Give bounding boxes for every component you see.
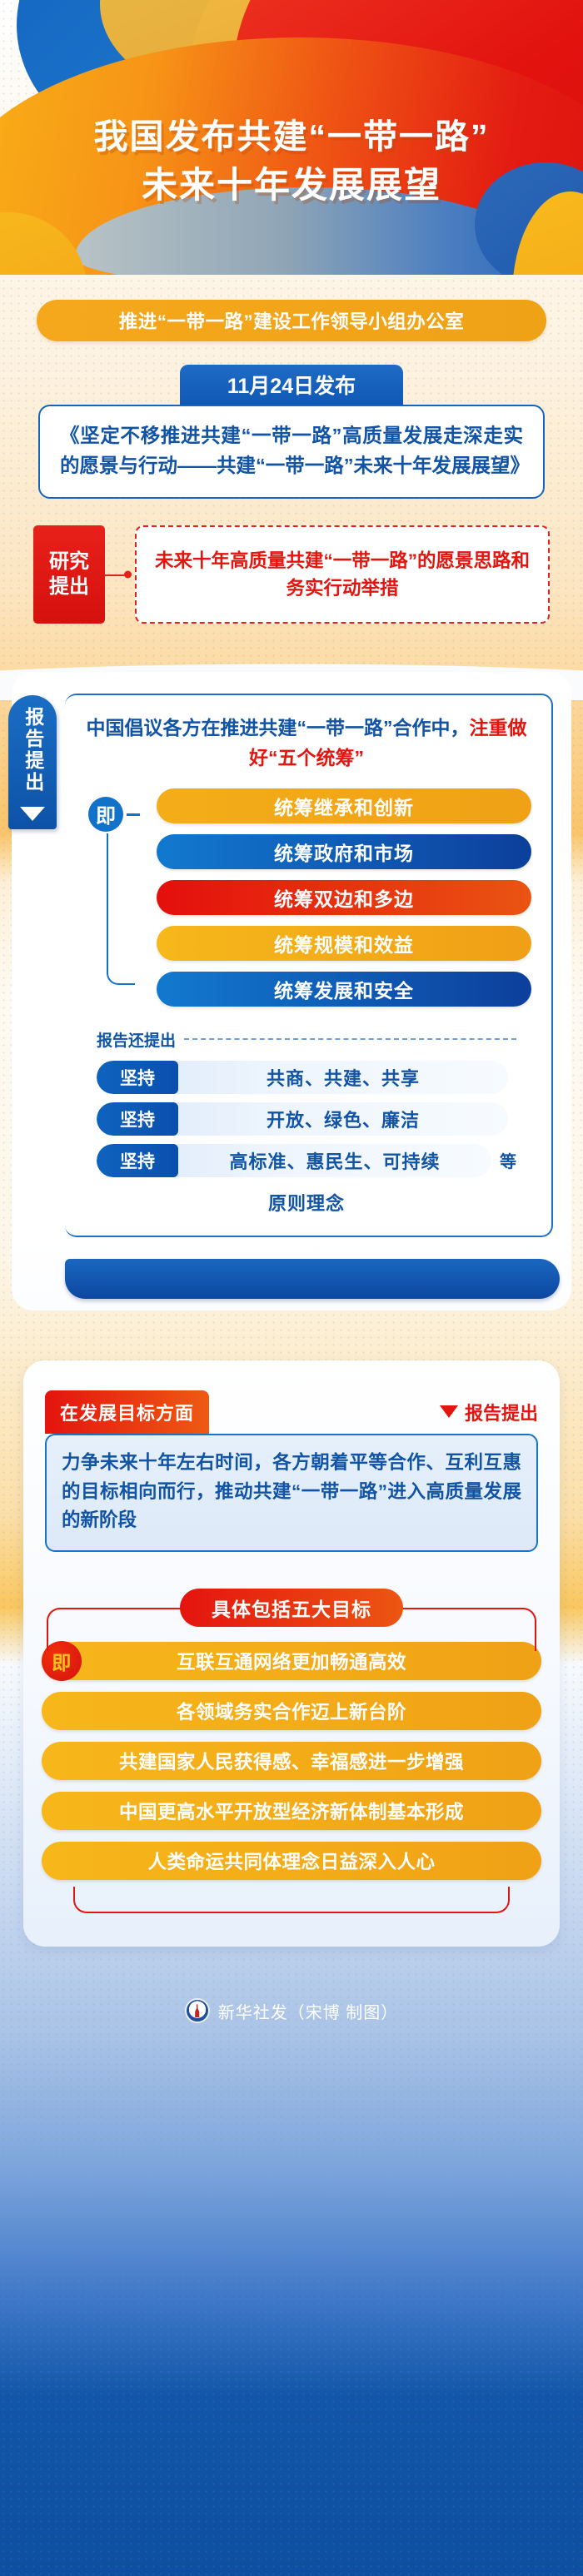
publish-date-tab: 11月24日发布	[180, 365, 403, 405]
triangle-down-icon	[440, 1405, 458, 1418]
goal-quote-card: 力争未来十年左右时间，各方朝着平等合作、互利互惠的目标相向而行，推动共建“一带一…	[45, 1434, 538, 1553]
ji-dash-icon	[127, 813, 140, 816]
also-proposed-header: 报告还提出	[97, 1028, 516, 1051]
goal-topic-tag: 在发展目标方面	[45, 1390, 209, 1434]
infographic-page: 我国发布共建“一带一路” 未来十年发展展望 推进“一带一路”建设工作领导小组办公…	[0, 0, 583, 2576]
goal-report-label-wrap: 报告提出	[440, 1399, 538, 1425]
persist-suffix-3: 等	[500, 1148, 516, 1172]
title-line-1: 我国发布共建“一带一路”	[0, 112, 583, 161]
coordination-pill-5[interactable]: 统筹发展和安全	[157, 972, 531, 1007]
research-text: 未来十年高质量共建“一带一路”的愿景思路和务实行动举措	[152, 547, 533, 604]
coordination-pill-list: 统筹继承和创新 统筹政府和市场 统筹双边和多边 统筹规模和效益 统筹发展和安全	[157, 788, 531, 1007]
document-title-text: 《坚定不移推进共建“一带一路”高质量发展走深走实的愿景与行动——共建“一带一路”…	[60, 421, 523, 480]
footer-credit: 新华社发（宋博 制图）	[218, 1999, 399, 2023]
report-lead-text: 中国倡议各方在推进共建“一带一路”合作中，注重做好“五个统筹”	[77, 714, 536, 773]
persist-text-3: 高标准、惠民生、可持续	[178, 1147, 491, 1174]
report-section: 报告提出 中国倡议各方在推进共建“一带一路”合作中，注重做好“五个统筹” 即 统…	[12, 672, 571, 1310]
report-vertical-tab: 报告提出	[8, 695, 57, 829]
goal-label-5: 人类命运共同体理念日益深入人心	[147, 1847, 435, 1874]
persist-row-3: 坚持 高标准、惠民生、可持续 等	[97, 1144, 516, 1177]
goal-bar-4[interactable]: 中国更高水平开放型经济新体制基本形成	[42, 1792, 541, 1830]
report-inner-card: 中国倡议各方在推进共建“一带一路”合作中，注重做好“五个统筹” 即 统筹继承和创…	[65, 694, 553, 1236]
connector-line-icon	[105, 525, 135, 624]
five-goals-tag: 具体包括五大目标	[180, 1589, 403, 1627]
research-text-box: 未来十年高质量共建“一带一路”的愿景思路和务实行动举措	[135, 525, 550, 624]
report-tab-label: 报告提出	[21, 707, 44, 793]
goal-label-4: 中国更高水平开放型经济新体制基本形成	[119, 1798, 464, 1824]
footer: 新华社发（宋博 制图）	[0, 1947, 583, 2048]
coordination-pill-area: 即 统筹继承和创新 统筹政府和市场 统筹双边和多边 统筹规模和效益 统筹发展和安…	[77, 788, 536, 1007]
goal-bar-5[interactable]: 人类命运共同体理念日益深入人心	[42, 1842, 541, 1880]
research-tag-line-2: 提出	[49, 574, 89, 599]
section-spacer	[12, 1299, 571, 1310]
goals-header: 在发展目标方面 报告提出	[23, 1390, 560, 1434]
goal-quote-text: 力争未来十年左右时间，各方朝着平等合作、互利互惠的目标相向而行，推动共建“一带一…	[62, 1449, 521, 1536]
persist-text-1: 共商、共建、共享	[178, 1064, 508, 1091]
goals-section: 在发展目标方面 报告提出 力争未来十年左右时间，各方朝着平等合作、互利互惠的目标…	[23, 1360, 560, 1947]
principle-label: 原则理念	[77, 1189, 536, 1216]
five-goals-header-wrap: 具体包括五大目标	[23, 1589, 560, 1627]
also-proposed-label: 报告还提出	[97, 1028, 176, 1051]
xinhua-logo-icon	[185, 1998, 210, 2023]
decorative-blue-bar	[65, 1259, 560, 1299]
persist-text-2: 开放、绿色、廉洁	[178, 1106, 508, 1132]
coordination-pill-1[interactable]: 统筹继承和创新	[157, 788, 531, 823]
title-line-2: 未来十年发展展望	[0, 161, 583, 211]
coordination-pill-2[interactable]: 统筹政府和市场	[157, 834, 531, 869]
page-title: 我国发布共建“一带一路” 未来十年发展展望	[0, 112, 583, 211]
header-banner: 我国发布共建“一带一路” 未来十年发展展望	[0, 0, 583, 275]
pill-bracket-icon	[107, 833, 135, 985]
research-proposal-row: 研究 提出 未来十年高质量共建“一带一路”的愿景思路和务实行动举措	[33, 525, 550, 624]
goal-bar-3[interactable]: 共建国家人民获得感、幸福感进一步增强	[42, 1742, 541, 1780]
persist-pill-2[interactable]: 坚持 开放、绿色、廉洁	[97, 1102, 508, 1136]
goal-label-1: 互联互通网络更加畅通高效	[177, 1648, 406, 1674]
persist-tag-1: 坚持	[97, 1061, 178, 1094]
dashed-divider	[184, 1038, 516, 1040]
goal-bar-2[interactable]: 各领域务实合作迈上新台阶	[42, 1692, 541, 1730]
goal-report-label: 报告提出	[465, 1399, 538, 1425]
persist-tag-2: 坚持	[97, 1102, 178, 1136]
goal-bottom-bracket-icon	[73, 1887, 510, 1913]
ji-badge-icon: 即	[88, 797, 123, 832]
goal-label-2: 各领域务实合作迈上新台阶	[177, 1698, 406, 1724]
chevron-down-icon	[20, 807, 45, 821]
persist-tag-3: 坚持	[97, 1144, 178, 1177]
coordination-pill-3[interactable]: 统筹双边和多边	[157, 880, 531, 915]
persist-pill-1[interactable]: 坚持 共商、共建、共享	[97, 1061, 508, 1094]
document-title-card: 《坚定不移推进共建“一带一路”高质量发展走深走实的愿景与行动——共建“一带一路”…	[38, 405, 545, 499]
research-tag: 研究 提出	[33, 525, 105, 624]
goal-list: 即 互联互通网络更加畅通高效 各领域务实合作迈上新台阶 共建国家人民获得感、幸福…	[42, 1642, 541, 1880]
report-lead-plain: 中国倡议各方在推进共建“一带一路”合作中，	[87, 717, 470, 738]
research-tag-line-1: 研究	[49, 550, 89, 574]
persist-row-2: 坚持 开放、绿色、廉洁	[97, 1102, 516, 1136]
persist-pill-3[interactable]: 坚持 高标准、惠民生、可持续	[97, 1144, 491, 1177]
goal-label-3: 共建国家人民获得感、幸福感进一步增强	[119, 1748, 464, 1774]
organization-pill: 推进“一带一路”建设工作领导小组办公室	[37, 300, 546, 341]
persist-row-1: 坚持 共商、共建、共享	[97, 1061, 516, 1094]
coordination-pill-4[interactable]: 统筹规模和效益	[157, 926, 531, 961]
